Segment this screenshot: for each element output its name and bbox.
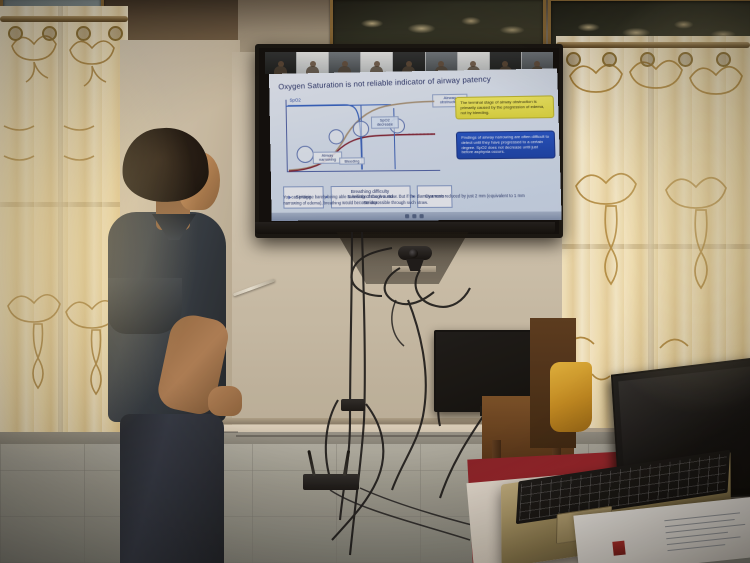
vc-tile[interactable]	[361, 52, 392, 74]
callout-yellow: The terminal stage of airway obstruction…	[455, 95, 554, 119]
presentation-slide: Oxygen Saturation is not reliable indica…	[269, 68, 562, 220]
annotation-spo2-decrease: SpO2 decrease	[371, 116, 399, 128]
taskbar-icon[interactable]	[412, 214, 416, 218]
taskbar-icon[interactable]	[419, 214, 423, 218]
taskbar-icon[interactable]	[405, 214, 409, 218]
slide-title: Oxygen Saturation is not reliable indica…	[278, 72, 548, 91]
curtain-rod-right	[556, 42, 750, 48]
curtain-grommet	[8, 26, 23, 41]
annotation-airway-narrowing: Airway narrowing	[313, 151, 343, 163]
slide-footnote: You can imagine barely being able to bre…	[283, 193, 542, 207]
airway-obstruction-chart: SpO2 Airway obstruction	[279, 93, 444, 186]
wall-mounted-tv[interactable]: Oxygen Saturation is not reliable indica…	[255, 44, 563, 238]
webcam	[398, 246, 432, 266]
callout-blue: Findings of airway narrowing are often d…	[456, 130, 556, 159]
chart-icon-marker	[353, 121, 370, 137]
vc-tile[interactable]	[297, 52, 328, 74]
curtain-grommet	[716, 52, 731, 67]
curtain-grommet	[76, 26, 91, 41]
chart-icon-marker	[296, 146, 313, 163]
vc-tile[interactable]	[329, 52, 360, 74]
curtain-rod-left	[0, 16, 128, 22]
curtain-grommet	[640, 52, 655, 67]
paper-text-line	[667, 544, 725, 551]
presenter	[104, 128, 244, 563]
power-outlet[interactable]	[341, 399, 365, 411]
yellow-cloth	[550, 362, 592, 432]
camera-lens-icon	[409, 249, 418, 258]
curtain-grommet	[108, 26, 123, 41]
wifi-router[interactable]	[303, 474, 359, 490]
curtain-grommet	[566, 52, 581, 67]
curtain-grommet	[42, 26, 57, 41]
chart-icon-marker	[328, 129, 344, 144]
paper-logo	[612, 541, 625, 556]
presenter-legs	[120, 414, 224, 563]
presenter-hand	[208, 386, 242, 416]
photo-scene: Oxygen Saturation is not reliable indica…	[0, 0, 750, 563]
vc-tile[interactable]	[265, 52, 296, 74]
curtain-grommet	[678, 52, 693, 67]
presenter-sleeve	[108, 278, 182, 334]
slide-taskbar[interactable]	[271, 211, 561, 220]
slide-footnote-text: You can imagine barely being able to bre…	[283, 193, 525, 206]
annotation-bleeding: Bleeding	[339, 157, 365, 165]
curtain-grommet	[602, 52, 617, 67]
bullet-triangle-icon	[288, 195, 291, 199]
